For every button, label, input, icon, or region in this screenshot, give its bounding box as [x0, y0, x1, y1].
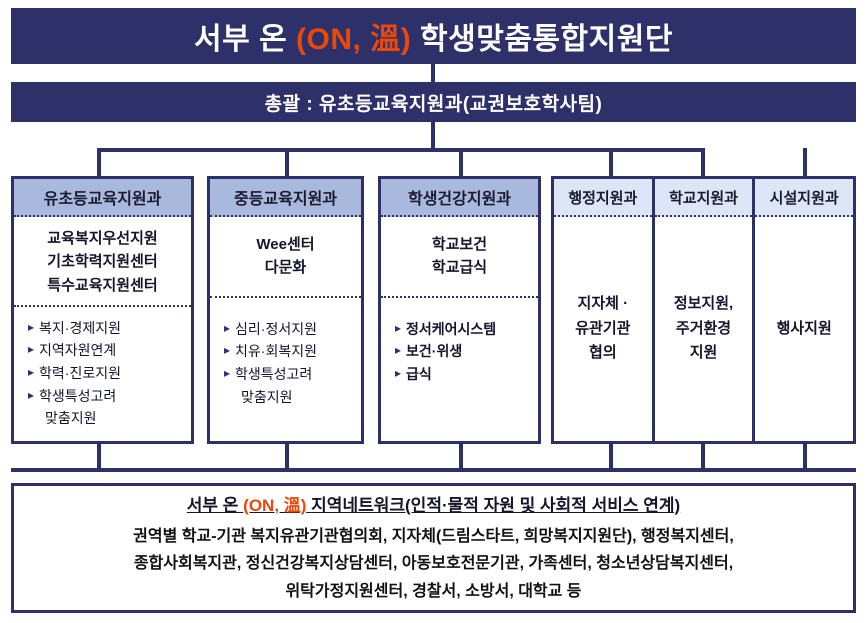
dept-2-program-2: 다문화	[214, 256, 357, 279]
list-item: ▸학생특성고려	[224, 363, 355, 386]
dept-1-program-1: 교육복지우선지원	[18, 227, 187, 250]
list-item-label: 치유·회복지원	[235, 340, 317, 363]
subtitle-bar: 총괄 : 유초등교육지원과(교권보호학사팀)	[11, 82, 856, 122]
list-item-label: 학생특성고려	[39, 385, 116, 408]
dept-1-program-3: 특수교육지원센터	[18, 274, 187, 297]
list-item-label: 보건·위생	[406, 340, 462, 363]
connector-drop-6	[803, 148, 807, 176]
list-item: ▸심리·정서지원	[224, 318, 355, 341]
org-chart-diagram: 서부 온 (ON, 溫) 학생맞춤통합지원단 총괄 : 유초등교육지원과(교권보…	[0, 0, 867, 623]
bullet-icon: ▸	[28, 317, 34, 337]
bullet-icon: ▸	[28, 362, 34, 382]
list-item-label: 심리·정서지원	[235, 318, 317, 341]
bullet-icon: ▸	[395, 318, 401, 338]
connector-bottom-drop-6	[803, 444, 807, 470]
connector-trunk	[431, 122, 435, 150]
subtitle-text: 총괄 : 유초등교육지원과(교권보호학사팀)	[265, 89, 603, 116]
support-group-box[interactable]: 행정지원과 지자체 · 유관기관 협의 학교지원과 정보지원, 주거환경 지원 …	[551, 176, 856, 444]
dept-3-program-1: 학교보건	[385, 233, 534, 256]
list-item: ▸학력·진로지원	[28, 362, 185, 385]
connector-bottom-drop-1	[97, 444, 101, 470]
bullet-icon: ▸	[395, 363, 401, 383]
support-cell-2-header: 학교지원과	[655, 179, 753, 217]
list-item: ▸학생특성고려	[28, 385, 185, 408]
dept-column-2[interactable]: 중등교육지원과 Wee센터 다문화 ▸심리·정서지원 ▸치유·회복지원 ▸학생특…	[207, 176, 364, 444]
connector-title-to-subtitle	[431, 64, 435, 82]
list-item-continuation: 맞춤지원	[45, 407, 185, 430]
dept-3-items: ▸정서케어시스템 ▸보건·위생 ▸급식	[381, 298, 538, 392]
support-cell-1-header: 행정지원과	[554, 179, 652, 217]
bullet-icon: ▸	[395, 340, 401, 360]
dept-2-header: 중등교육지원과	[210, 179, 361, 217]
dept-3-header: 학생건강지원과	[381, 179, 538, 217]
page-title: 서부 온 (ON, 溫) 학생맞춤통합지원단	[11, 8, 856, 64]
list-item: ▸보건·위생	[395, 340, 532, 363]
support-cell-2-body: 정보지원, 주거환경 지원	[655, 217, 753, 441]
bullet-icon: ▸	[28, 339, 34, 359]
connector-bottom-drop-4	[609, 444, 613, 470]
network-box[interactable]: 서부 온 (ON, 溫) 지역네트워크(인적·물적 자원 및 사회적 서비스 연…	[11, 483, 856, 613]
dept-column-1[interactable]: 유초등교육지원과 교육복지우선지원 기초학력지원센터 특수교육지원센터 ▸복지·…	[11, 176, 194, 444]
list-item: ▸지역자원연계	[28, 339, 185, 362]
dept-1-items: ▸복지·경제지원 ▸지역자원연계 ▸학력·진로지원 ▸학생특성고려 맞춤지원	[14, 307, 191, 436]
dept-column-3[interactable]: 학생건강지원과 학교보건 학교급식 ▸정서케어시스템 ▸보건·위생 ▸급식	[378, 176, 541, 444]
dept-1-header: 유초등교육지원과	[14, 179, 191, 217]
dept-1-program-2: 기초학력지원센터	[18, 250, 187, 273]
list-item-continuation: 맞춤지원	[241, 386, 355, 409]
connector-bottom-drop-3	[459, 444, 463, 470]
list-item-label: 지역자원연계	[39, 339, 116, 362]
support-cell-1-body: 지자체 · 유관기관 협의	[554, 217, 652, 441]
connector-bottom-bus	[11, 468, 856, 472]
dept-2-programs: Wee센터 다문화	[210, 217, 361, 298]
dept-2-items: ▸심리·정서지원 ▸치유·회복지원 ▸학생특성고려 맞춤지원	[210, 298, 361, 415]
support-cell-2[interactable]: 학교지원과 정보지원, 주거환경 지원	[655, 179, 756, 441]
network-line-3: 위탁가정지원센터, 경찰서, 소방서, 대학교 등	[285, 578, 581, 606]
page-title-pre: 서부 온	[194, 14, 287, 58]
network-line-1: 권역별 학교-기관 복지유관기관협의회, 지자체(드림스타트, 희망복지지원단)…	[133, 523, 734, 551]
connector-bottom-drop-2	[285, 444, 289, 470]
page-title-accent: (ON, 溫)	[296, 14, 411, 58]
dept-1-programs: 교육복지우선지원 기초학력지원센터 특수교육지원센터	[14, 217, 191, 307]
network-title-pre: 서부 온	[187, 496, 239, 515]
dept-3-program-2: 학교급식	[385, 256, 534, 279]
support-cell-3-body: 행사지원	[755, 217, 853, 441]
support-cell-3[interactable]: 시설지원과 행사지원	[755, 179, 853, 441]
list-item: ▸복지·경제지원	[28, 317, 185, 340]
bullet-icon: ▸	[28, 385, 34, 405]
connector-drop-3	[459, 148, 463, 176]
list-item: ▸치유·회복지원	[224, 340, 355, 363]
list-item-label: 학생특성고려	[235, 363, 312, 386]
network-title: 서부 온 (ON, 溫) 지역네트워크(인적·물적 자원 및 사회적 서비스 연…	[187, 491, 680, 516]
list-item-label: 급식	[406, 363, 432, 386]
bullet-icon: ▸	[224, 318, 230, 338]
page-title-post: 학생맞춤통합지원단	[420, 14, 673, 58]
support-cell-1[interactable]: 행정지원과 지자체 · 유관기관 협의	[554, 179, 655, 441]
bullet-icon: ▸	[224, 363, 230, 383]
network-title-accent: (ON, 溫)	[243, 496, 306, 515]
list-item: ▸정서케어시스템	[395, 318, 532, 341]
connector-bottom-drop-5	[701, 444, 705, 470]
dept-2-program-1: Wee센터	[214, 233, 357, 256]
connector-drop-5	[701, 148, 705, 176]
bullet-icon: ▸	[224, 340, 230, 360]
dept-3-programs: 학교보건 학교급식	[381, 217, 538, 298]
list-item-label: 정서케어시스템	[406, 318, 496, 341]
support-cell-3-header: 시설지원과	[755, 179, 853, 217]
list-item-label: 복지·경제지원	[39, 317, 121, 340]
list-item: ▸급식	[395, 363, 532, 386]
network-title-post: 지역네트워크(인적·물적 자원 및 사회적 서비스 연계)	[311, 496, 680, 515]
connector-drop-4	[609, 148, 613, 176]
connector-drop-2	[285, 148, 289, 176]
connector-drop-1	[97, 148, 101, 176]
network-line-2: 종합사회복지관, 정신건강복지상담센터, 아동보호전문기관, 가족센터, 청소년…	[134, 550, 733, 578]
list-item-label: 학력·진로지원	[39, 362, 121, 385]
